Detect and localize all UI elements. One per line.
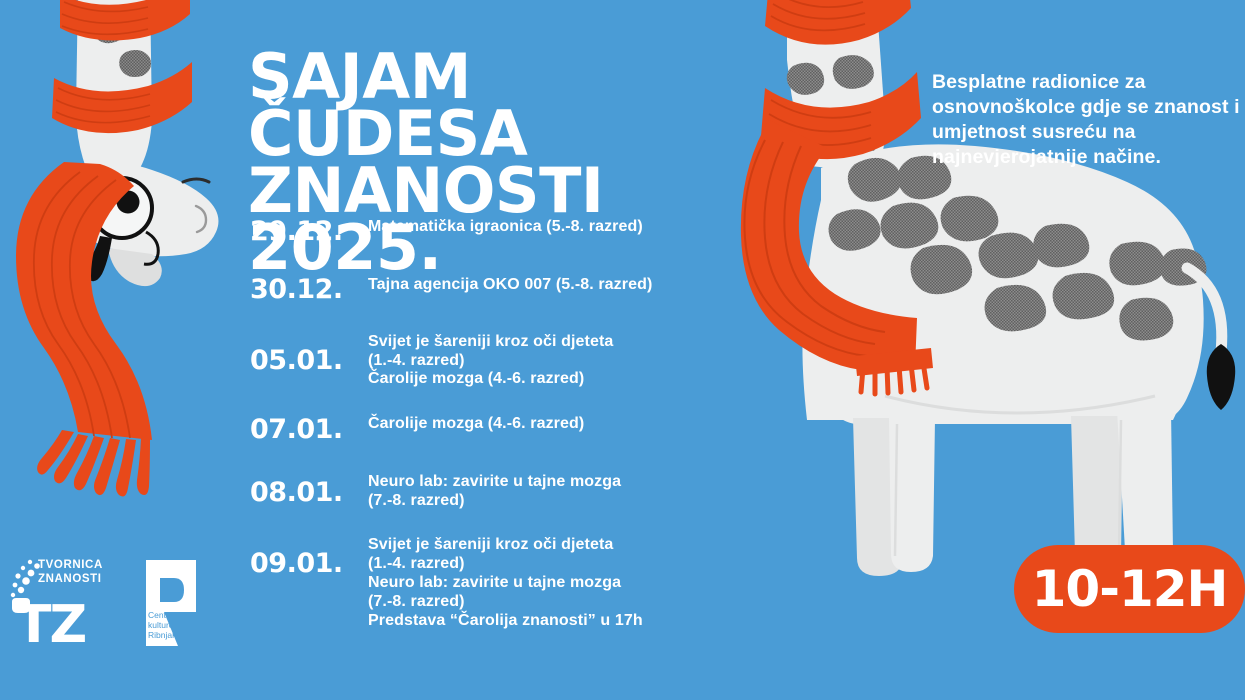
svg-text:ZNANOSTI: ZNANOSTI <box>38 573 102 585</box>
schedule-item: Svijet je šareniji kroz oči djeteta (1.-… <box>368 536 770 630</box>
schedule-item: Tajna agencija OKO 007 (5.-8. razred) <box>368 276 770 295</box>
tvornica-znanosti-mark: TVORNICA ZNANOSTI TZ <box>8 556 108 646</box>
schedule-items: Čarolije mozga (4.-6. razred) <box>360 415 770 434</box>
svg-text:TVORNICA: TVORNICA <box>38 559 103 571</box>
intro-description: Besplatne radionice za osnovnoškolce gdj… <box>932 70 1242 170</box>
schedule-item: Svijet je šareniji kroz oči djeteta (1.-… <box>368 333 770 390</box>
schedule-row: 09.01. Svijet je šareniji kroz oči djete… <box>250 536 770 630</box>
schedule-item: Matematička igraonica (5.-8. razred) <box>368 218 770 237</box>
schedule-row: 08.01. Neuro lab: zavirite u tajne mozga… <box>250 473 770 511</box>
svg-text:kulture: kulture <box>148 620 174 630</box>
hours-badge: 10-12H <box>1014 545 1245 633</box>
logo-row: TVORNICA ZNANOSTI TZ TVORNICA ZNANOSTI T… <box>8 556 196 646</box>
schedule-date: 05.01. <box>250 333 360 375</box>
schedule-list: 29.12. Matematička igraonica (5.-8. razr… <box>250 218 770 645</box>
svg-text:Ribnjak: Ribnjak <box>148 630 177 640</box>
schedule-date: 29.12. <box>250 218 360 246</box>
schedule-row: 07.01. Čarolije mozga (4.-6. razred) <box>250 415 770 444</box>
schedule-item: Čarolije mozga (4.-6. razred) <box>368 415 770 434</box>
schedule-date: 30.12. <box>250 276 360 304</box>
page-title-line1: SAJAM ČUDESA <box>248 40 527 170</box>
svg-text:Centar: Centar <box>148 610 174 620</box>
logo-tvornica-znanosti: TVORNICA ZNANOSTI TZ TVORNICA ZNANOSTI T… <box>8 556 108 646</box>
schedule-items: Matematička igraonica (5.-8. razred) <box>360 218 770 237</box>
schedule-row: 29.12. Matematička igraonica (5.-8. razr… <box>250 218 770 246</box>
schedule-item: Neuro lab: zavirite u tajne mozga (7.-8.… <box>368 473 770 511</box>
bubbles-icon <box>11 560 40 597</box>
schedule-date: 08.01. <box>250 473 360 507</box>
schedule-row: 05.01. Svijet je šareniji kroz oči djete… <box>250 333 770 390</box>
schedule-items: Tajna agencija OKO 007 (5.-8. razred) <box>360 276 770 295</box>
schedule-items: Svijet je šareniji kroz oči djeteta (1.-… <box>360 333 770 390</box>
ribnjak-mark: Centar kulture Ribnjak <box>134 560 196 646</box>
giraffe-head-with-monocle-illustration <box>0 0 250 520</box>
hours-badge-label: 10-12H <box>1032 560 1228 618</box>
logo-centar-kulture-ribnjak: Centar kulture Ribnjak R Centar kulture … <box>134 560 196 646</box>
schedule-row: 30.12. Tajna agencija OKO 007 (5.-8. raz… <box>250 276 770 304</box>
schedule-date: 07.01. <box>250 415 360 444</box>
schedule-items: Svijet je šareniji kroz oči djeteta (1.-… <box>360 536 770 630</box>
poster-canvas: SAJAM ČUDESA ZNANOSTI 2025. Besplatne ra… <box>0 0 1245 700</box>
schedule-items: Neuro lab: zavirite u tajne mozga (7.-8.… <box>360 473 770 511</box>
schedule-date: 09.01. <box>250 536 360 578</box>
svg-text:TZ: TZ <box>16 595 85 646</box>
